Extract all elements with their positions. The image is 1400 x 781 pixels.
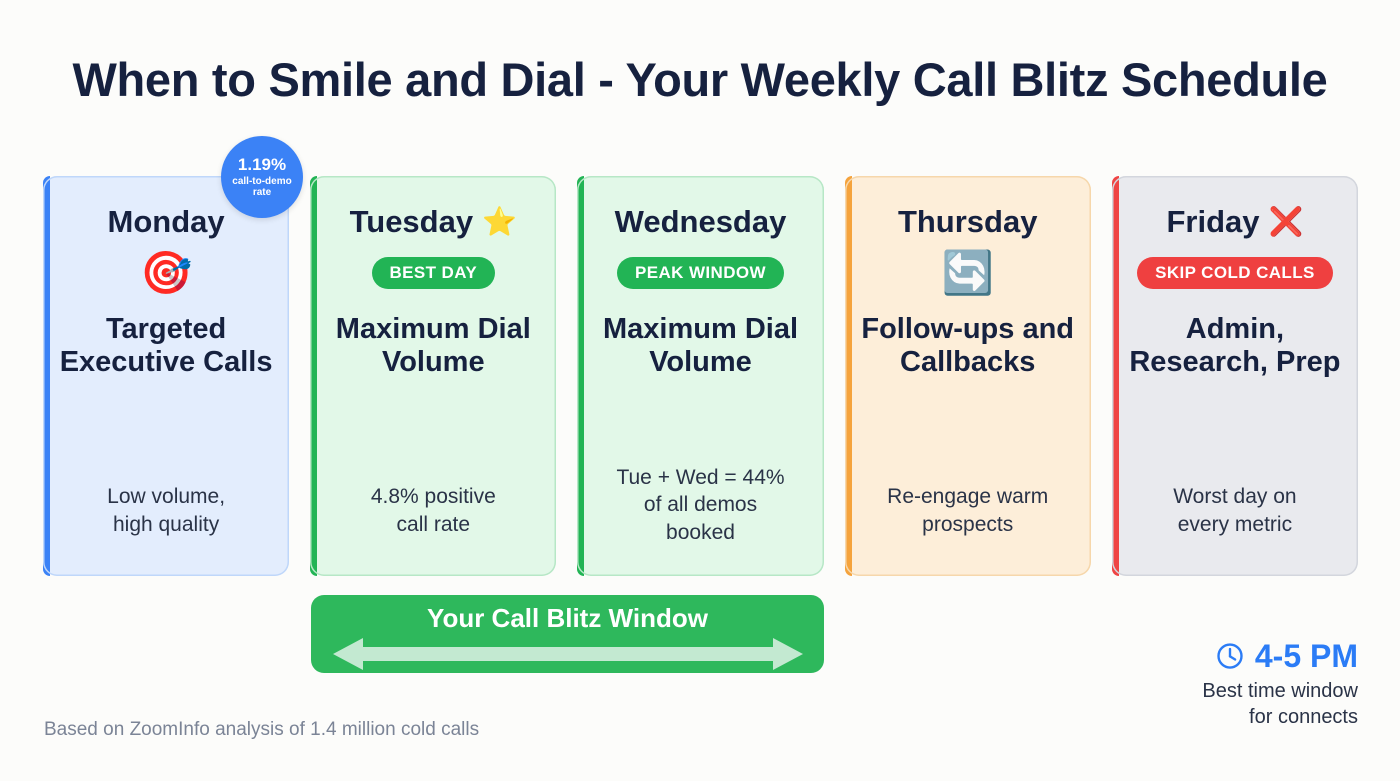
best-time-value: 4-5 PM: [1255, 640, 1358, 672]
accent-bar-friday: [1112, 176, 1119, 576]
subtext-tuesday: 4.8% positive call rate: [371, 483, 496, 538]
subtext-line-2: prospects: [887, 511, 1048, 538]
day-card-monday[interactable]: Monday 🎯 Targeted Executive Calls Low vo…: [43, 176, 289, 576]
badge-slot-thursday: 🔄: [859, 239, 1077, 307]
status-badge-skip-cold-calls: SKIP COLD CALLS: [1137, 257, 1333, 289]
day-card-friday[interactable]: Friday ❌ SKIP COLD CALLS Admin, Research…: [1112, 176, 1358, 576]
headline-tuesday: Maximum Dial Volume: [324, 313, 542, 381]
rate-badge-label: call-to-demo rate: [232, 176, 291, 198]
subtext-wednesday: Tue + Wed = 44% of all demos booked: [616, 464, 784, 546]
badge-slot-friday: SKIP COLD CALLS: [1126, 239, 1344, 307]
call-blitz-window-banner: Your Call Blitz Window: [311, 595, 824, 673]
subtext-line-3: booked: [616, 519, 784, 546]
headline-thursday: Follow-ups and Callbacks: [859, 313, 1077, 381]
badge-slot-tuesday: BEST DAY: [324, 239, 542, 307]
badge-slot-wednesday: PEAK WINDOW: [591, 239, 809, 307]
subtext-line-1: 4.8% positive: [371, 483, 496, 510]
day-card-thursday[interactable]: Thursday 🔄 Follow-ups and Callbacks Re-e…: [845, 176, 1091, 576]
headline-monday: Targeted Executive Calls: [57, 313, 275, 381]
rate-badge-label-line-2: rate: [232, 187, 291, 198]
weekday-cards-row: Monday 🎯 Targeted Executive Calls Low vo…: [43, 176, 1358, 576]
status-badge-peak-window: PEAK WINDOW: [617, 257, 784, 289]
cross-mark-icon: ❌: [1268, 208, 1303, 236]
subtext-line-2: high quality: [107, 511, 225, 538]
subtext-line-2: call rate: [371, 511, 496, 538]
page-title: When to Smile and Dial - Your Weekly Cal…: [0, 52, 1400, 107]
day-label-thursday: Thursday: [898, 206, 1038, 239]
best-time-caption-line-1: Best time window: [1118, 679, 1358, 705]
day-label-wednesday: Wednesday: [615, 206, 787, 239]
day-label-friday: Friday: [1166, 206, 1259, 239]
star-icon: ⭐: [482, 208, 517, 236]
best-time-row: 4-5 PM: [1118, 640, 1358, 672]
headline-wednesday: Maximum Dial Volume: [591, 313, 809, 381]
direct-hit-target-icon: 🎯: [140, 252, 192, 294]
subtext-line-2: of all demos: [616, 491, 784, 518]
double-headed-arrow-icon: [333, 637, 803, 671]
subtext-line-1: Worst day on: [1173, 483, 1296, 510]
status-badge-best-day: BEST DAY: [372, 257, 496, 289]
day-name-tuesday: Tuesday ⭐: [350, 206, 517, 239]
subtext-friday: Worst day on every metric: [1173, 483, 1296, 538]
day-label-tuesday: Tuesday: [350, 206, 473, 239]
subtext-thursday: Re-engage warm prospects: [887, 483, 1048, 538]
accent-bar-monday: [43, 176, 50, 576]
day-name-thursday: Thursday: [898, 206, 1038, 239]
headline-line: Follow-ups and Callbacks: [859, 313, 1077, 381]
subtext-line-1: Re-engage warm: [887, 483, 1048, 510]
accent-bar-thursday: [845, 176, 852, 576]
best-time-caption-line-2: for connects: [1118, 705, 1358, 731]
subtext-line-1: Tue + Wed = 44%: [616, 464, 784, 491]
call-to-demo-rate-badge[interactable]: 1.19% call-to-demo rate: [221, 136, 303, 218]
badge-slot-monday: 🎯: [57, 239, 275, 307]
day-card-tuesday[interactable]: Tuesday ⭐ BEST DAY Maximum Dial Volume 4…: [310, 176, 556, 576]
rate-badge-value: 1.19%: [238, 156, 286, 175]
call-blitz-window-label: Your Call Blitz Window: [427, 604, 708, 633]
day-label-monday: Monday: [108, 206, 225, 239]
headline-line: Targeted Executive Calls: [57, 313, 275, 381]
day-name-monday: Monday: [108, 206, 225, 239]
best-time-caption: Best time window for connects: [1118, 679, 1358, 730]
subtext-line-2: every metric: [1173, 511, 1296, 538]
headline-line: Maximum Dial Volume: [591, 313, 809, 381]
day-name-friday: Friday ❌: [1166, 206, 1303, 239]
accent-bar-wednesday: [577, 176, 584, 576]
accent-bar-tuesday: [310, 176, 317, 576]
subtext-monday: Low volume, high quality: [107, 483, 225, 538]
headline-friday: Admin, Research, Prep: [1126, 313, 1344, 381]
day-name-wednesday: Wednesday: [615, 206, 787, 239]
day-card-wednesday[interactable]: Wednesday PEAK WINDOW Maximum Dial Volum…: [577, 176, 823, 576]
source-footnote: Based on ZoomInfo analysis of 1.4 millio…: [44, 719, 479, 741]
headline-line: Maximum Dial Volume: [324, 313, 542, 381]
subtext-line-1: Low volume,: [107, 483, 225, 510]
rate-badge-label-line-1: call-to-demo: [232, 176, 291, 187]
headline-line: Admin, Research, Prep: [1126, 313, 1344, 381]
clock-icon: [1215, 641, 1245, 671]
counterclockwise-arrows-refresh-icon: 🔄: [942, 252, 994, 294]
best-time-callout: 4-5 PM Best time window for connects: [1118, 640, 1358, 730]
